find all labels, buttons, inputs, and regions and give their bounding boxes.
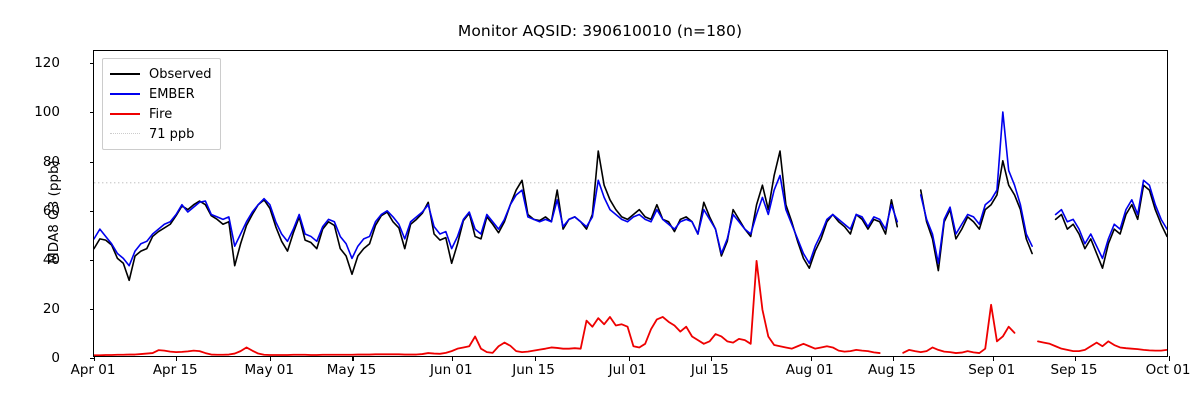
legend-swatch-ember bbox=[110, 88, 140, 100]
x-tick-mark bbox=[176, 356, 177, 361]
x-tick-label: Sep 15 bbox=[1051, 362, 1098, 378]
x-tick-label: Apr 01 bbox=[71, 362, 116, 378]
y-tick-label: 100 bbox=[0, 104, 60, 120]
x-tick-label: Apr 15 bbox=[153, 362, 198, 378]
chart-figure: Monitor AQSID: 390610010 (n=180) MDA8 O3… bbox=[0, 0, 1200, 400]
x-tick-label: Jun 01 bbox=[430, 362, 473, 378]
series-svg bbox=[94, 51, 1167, 356]
legend-swatch-observed bbox=[110, 68, 140, 80]
y-tick-mark bbox=[90, 112, 95, 113]
y-tick-mark bbox=[90, 162, 95, 163]
y-tick-label: 40 bbox=[0, 252, 60, 268]
x-tick-label: Jul 15 bbox=[691, 362, 729, 378]
y-tick-mark bbox=[90, 63, 95, 64]
x-tick-mark bbox=[270, 356, 271, 361]
legend-entry: Observed bbox=[110, 64, 212, 84]
legend-label: 71 ppb bbox=[149, 127, 194, 142]
x-tick-mark bbox=[1169, 356, 1170, 361]
series-line-fire bbox=[903, 305, 1014, 353]
x-tick-mark bbox=[452, 356, 453, 361]
x-tick-mark bbox=[629, 356, 630, 361]
chart-legend: ObservedEMBERFire71 ppb bbox=[102, 58, 221, 150]
chart-title: Monitor AQSID: 390610010 (n=180) bbox=[0, 22, 1200, 40]
series-line-observed bbox=[921, 161, 1032, 271]
legend-label: Observed bbox=[149, 67, 212, 82]
x-tick-label: Oct 01 bbox=[1146, 362, 1191, 378]
plot-clip-region bbox=[94, 51, 1167, 356]
legend-entry: EMBER bbox=[110, 84, 212, 104]
y-tick-label: 60 bbox=[0, 203, 60, 219]
y-tick-label: 80 bbox=[0, 154, 60, 170]
x-tick-label: Jul 01 bbox=[609, 362, 647, 378]
x-tick-label: May 01 bbox=[245, 362, 294, 378]
x-tick-mark bbox=[993, 356, 994, 361]
legend-label: EMBER bbox=[149, 87, 195, 102]
x-tick-mark bbox=[352, 356, 353, 361]
x-tick-mark bbox=[893, 356, 894, 361]
x-tick-mark bbox=[535, 356, 536, 361]
y-tick-mark bbox=[90, 260, 95, 261]
x-tick-label: May 15 bbox=[327, 362, 376, 378]
legend-entry: 71 ppb bbox=[110, 124, 212, 144]
x-tick-mark bbox=[711, 356, 712, 361]
x-tick-label: Jun 15 bbox=[512, 362, 555, 378]
y-tick-mark bbox=[90, 309, 95, 310]
series-line-fire bbox=[94, 261, 880, 355]
series-line-ember bbox=[94, 175, 897, 265]
series-line-fire bbox=[1038, 324, 1167, 351]
legend-entry: Fire bbox=[110, 104, 212, 124]
plot-area: MDA8 O3 (ppb) 020406080100120 ObservedEM… bbox=[93, 50, 1168, 357]
legend-swatch-71-ppb bbox=[110, 128, 140, 140]
x-tick-label: Sep 01 bbox=[968, 362, 1015, 378]
y-tick-label: 0 bbox=[0, 350, 60, 366]
x-tick-mark bbox=[94, 356, 95, 361]
y-tick-mark bbox=[90, 211, 95, 212]
y-tick-label: 20 bbox=[0, 301, 60, 317]
x-tick-label: Aug 15 bbox=[868, 362, 916, 378]
legend-swatch-fire bbox=[110, 108, 140, 120]
legend-label: Fire bbox=[149, 107, 172, 122]
series-line-ember bbox=[921, 112, 1032, 263]
x-tick-mark bbox=[811, 356, 812, 361]
y-tick-label: 120 bbox=[0, 55, 60, 71]
x-tick-mark bbox=[1075, 356, 1076, 361]
x-tick-label: Aug 01 bbox=[786, 362, 834, 378]
